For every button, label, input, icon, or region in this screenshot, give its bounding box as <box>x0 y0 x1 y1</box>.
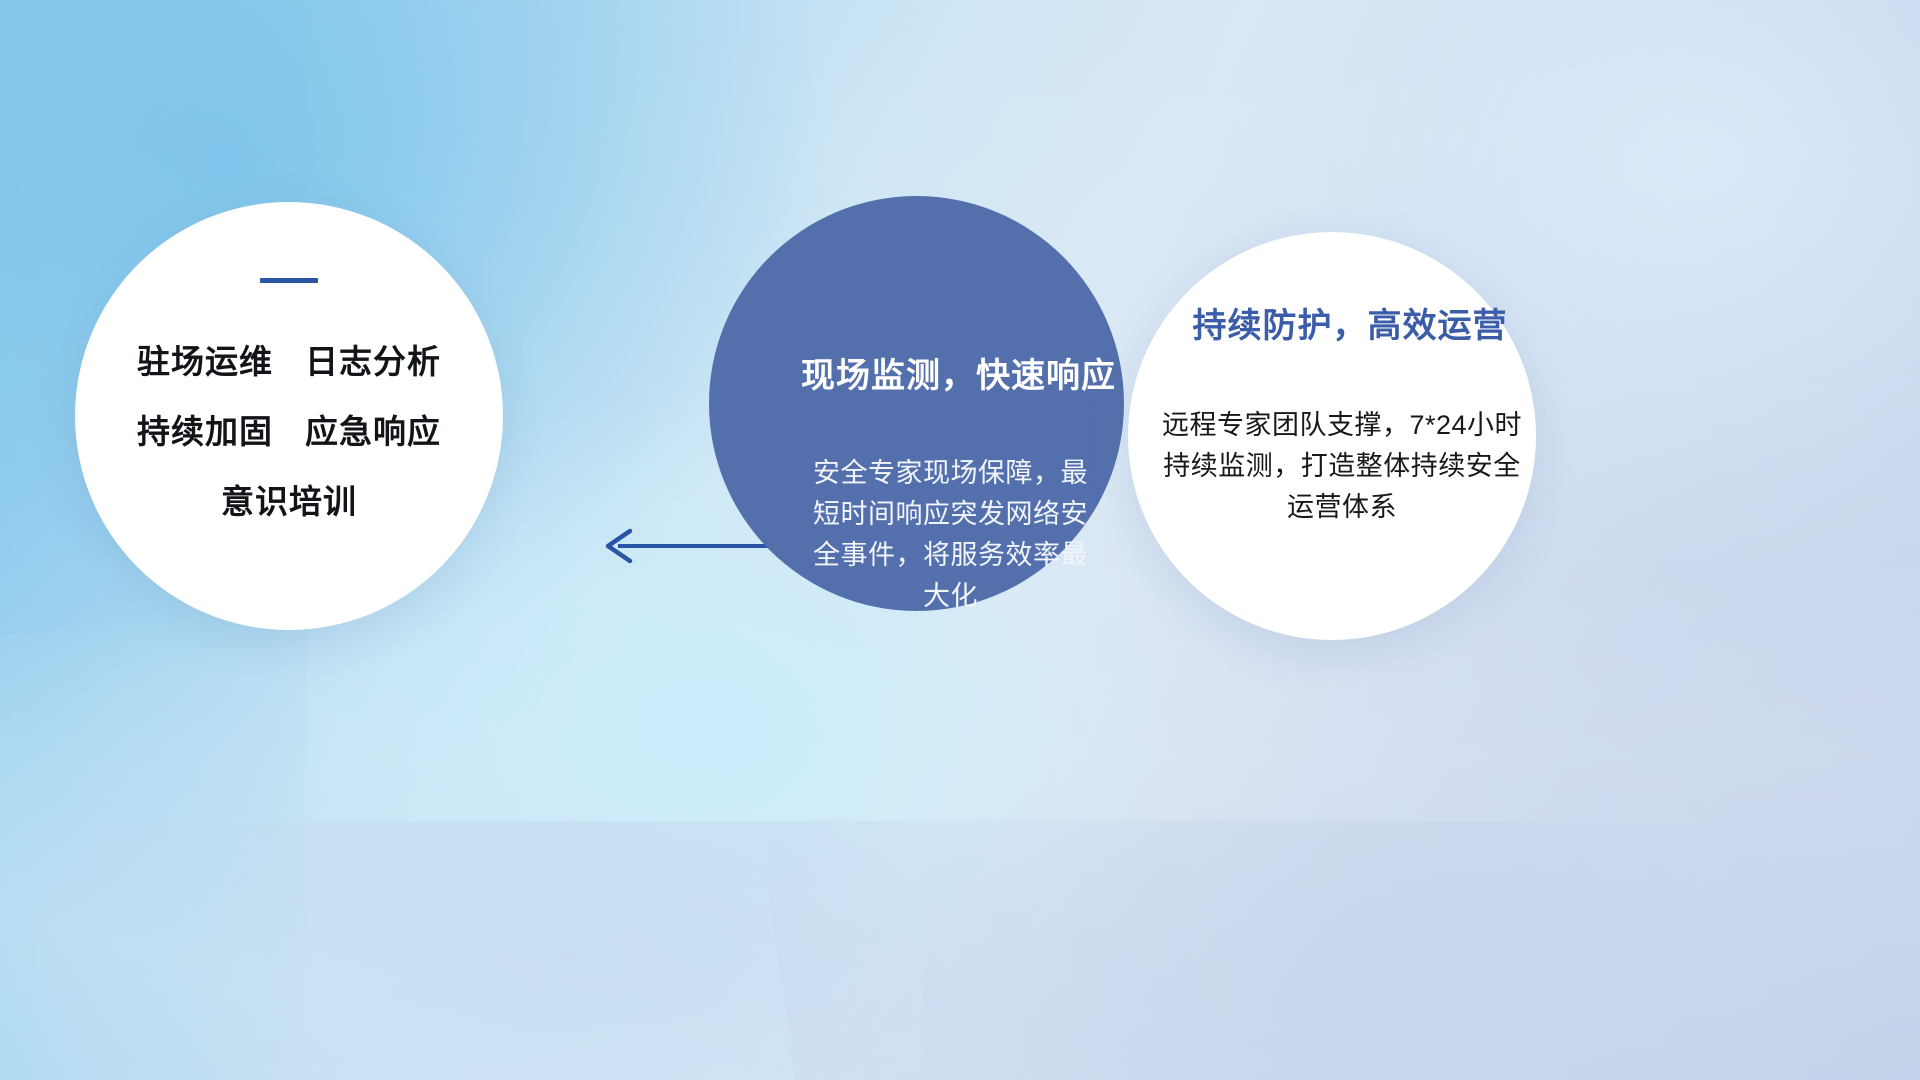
center-circle-content: 现场监测，快速响应 安全专家现场保障，最短时间响应突发网络安全事件，将服务效率最… <box>709 196 1124 611</box>
right-circle-body: 远程专家团队支撑，7*24小时持续监测，打造整体持续安全运营体系 <box>1153 405 1531 528</box>
capability-item: 应急响应 <box>305 405 441 453</box>
background-glow-bottom-right <box>922 821 1882 1080</box>
capability-item: 持续加固 <box>137 405 273 453</box>
capability-list: 驻场运维 日志分析 持续加固 应急响应 意识培训 <box>137 335 441 523</box>
accent-dash-divider <box>260 278 318 283</box>
left-circle-content: 驻场运维 日志分析 持续加固 应急响应 意识培训 <box>75 202 503 630</box>
right-capability-circle[interactable]: 持续防护，高效运营 远程专家团队支撑，7*24小时持续监测，打造整体持续安全运营… <box>1128 232 1536 640</box>
center-circle-body: 安全专家现场保障，最短时间响应突发网络安全事件，将服务效率最大化 <box>801 453 1101 617</box>
capability-item: 意识培训 <box>221 475 357 523</box>
left-capability-circle[interactable]: 驻场运维 日志分析 持续加固 应急响应 意识培训 <box>75 202 503 630</box>
capability-item: 驻场运维 <box>137 335 273 383</box>
center-circle-title: 现场监测，快速响应 <box>801 348 1116 397</box>
right-circle-title: 持续防护，高效运营 <box>1193 298 1508 347</box>
capability-row: 驻场运维 日志分析 <box>137 335 441 383</box>
center-capability-circle[interactable]: 现场监测，快速响应 安全专家现场保障，最短时间响应突发网络安全事件，将服务效率最… <box>709 196 1124 611</box>
capability-row: 意识培训 <box>221 475 357 523</box>
right-circle-content: 持续防护，高效运营 远程专家团队支撑，7*24小时持续监测，打造整体持续安全运营… <box>1128 232 1536 640</box>
capability-row: 持续加固 应急响应 <box>137 405 441 453</box>
capability-item: 日志分析 <box>305 335 441 383</box>
